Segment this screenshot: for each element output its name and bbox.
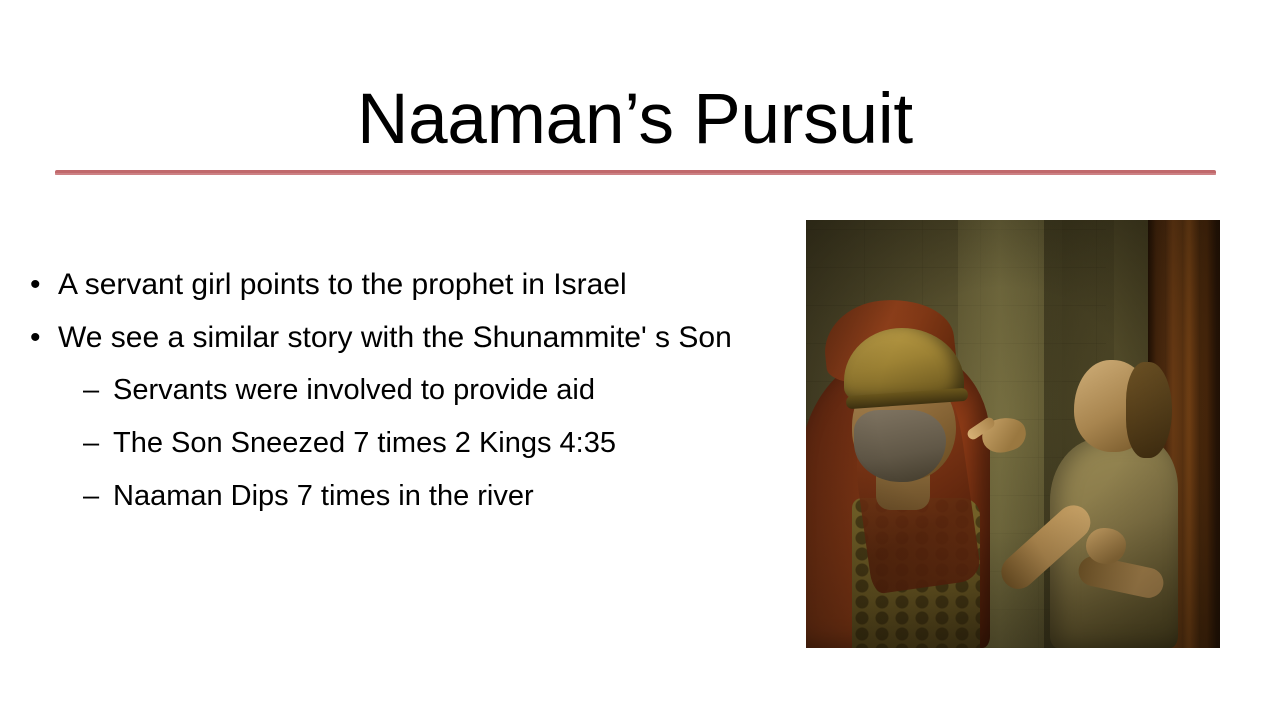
title-divider-rule <box>55 170 1216 175</box>
page-title: Naaman’s Pursuit <box>55 78 1215 162</box>
slide-canvas: Naaman’s Pursuit • A servant girl points… <box>0 0 1280 720</box>
figure-servant-girl <box>1018 318 1178 648</box>
hair-front <box>1126 362 1172 458</box>
painting-canvas <box>806 220 1220 648</box>
list-item[interactable]: – Naaman Dips 7 times in the river <box>83 470 790 523</box>
resting-hand <box>1086 528 1126 564</box>
bullet-marker-icon: • <box>30 311 58 364</box>
list-item-label: Naaman Dips 7 times in the river <box>113 470 790 523</box>
content-bullet-list: • A servant girl points to the prophet i… <box>30 258 790 523</box>
bullet-marker-icon: • <box>30 258 58 311</box>
list-item[interactable]: • We see a similar story with the Shunam… <box>30 311 790 364</box>
dash-marker-icon: – <box>83 470 113 523</box>
list-item[interactable]: • A servant girl points to the prophet i… <box>30 258 790 311</box>
list-item[interactable]: – Servants were involved to provide aid <box>83 364 790 417</box>
list-item-label: The Son Sneezed 7 times 2 Kings 4:35 <box>113 417 790 470</box>
list-item-label: A servant girl points to the prophet in … <box>58 258 790 311</box>
dash-marker-icon: – <box>83 364 113 417</box>
list-item[interactable]: – The Son Sneezed 7 times 2 Kings 4:35 <box>83 417 790 470</box>
figure-commander <box>806 248 1015 648</box>
dash-marker-icon: – <box>83 417 113 470</box>
list-item-label: We see a similar story with the Shunammi… <box>58 311 790 364</box>
list-item-label: Servants were involved to provide aid <box>113 364 790 417</box>
slide-image[interactable] <box>806 220 1220 648</box>
